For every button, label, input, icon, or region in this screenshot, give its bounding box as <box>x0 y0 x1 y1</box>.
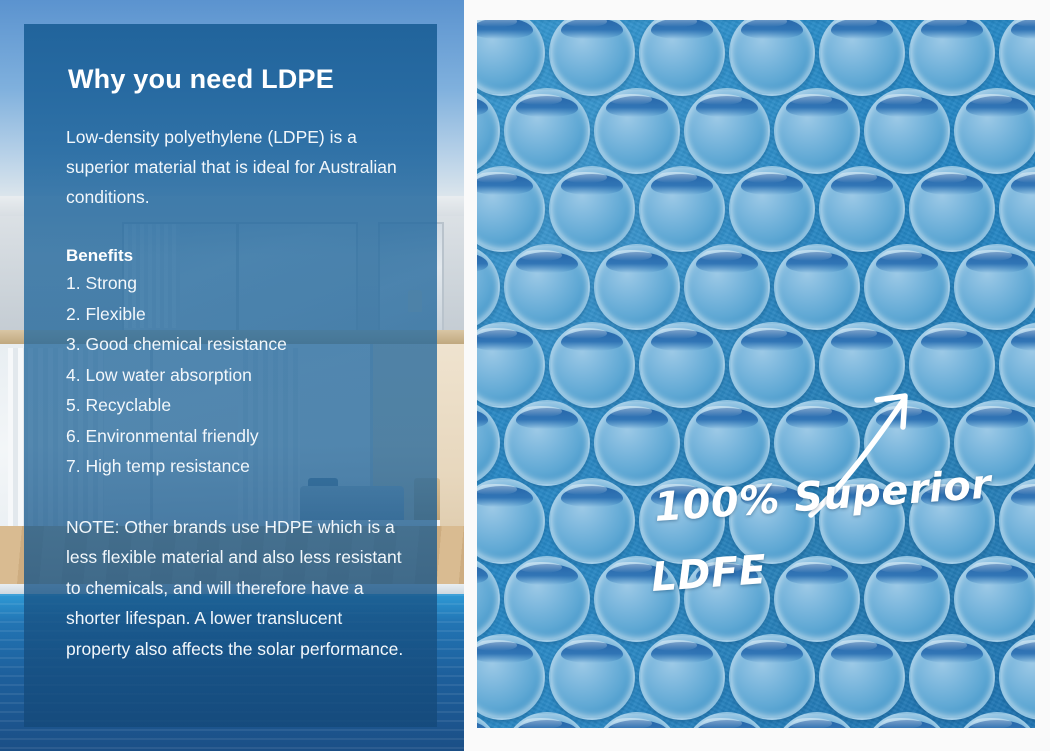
bubble <box>477 556 500 642</box>
bubble <box>504 400 590 486</box>
note-paragraph: NOTE: Other brands use HDPE which is a l… <box>66 512 411 665</box>
bubble <box>477 322 545 408</box>
bubble <box>774 88 860 174</box>
bubble <box>684 400 770 486</box>
bubble <box>774 244 860 330</box>
list-item: 7. High temp resistance <box>66 451 411 482</box>
bubble <box>729 634 815 720</box>
bubble <box>639 166 725 252</box>
bubble <box>729 166 815 252</box>
bubble <box>549 478 635 564</box>
bubble <box>954 556 1035 642</box>
intro-paragraph: Low-density polyethylene (LDPE) is a sup… <box>66 122 411 212</box>
bubble <box>999 478 1035 564</box>
bubble <box>594 88 680 174</box>
bubble <box>504 88 590 174</box>
bubble <box>594 400 680 486</box>
bubble <box>477 478 545 564</box>
bubble <box>477 166 545 252</box>
list-item: 4. Low water absorption <box>66 360 411 391</box>
bubble <box>999 322 1035 408</box>
bubble <box>477 400 500 486</box>
info-card: Why you need LDPE Low-density polyethyle… <box>24 24 437 727</box>
bubble <box>549 166 635 252</box>
annotation-line-2: LDFE <box>650 547 768 601</box>
bubble <box>864 244 950 330</box>
benefits-list: 1. Strong 2. Flexible 3. Good chemical r… <box>66 268 411 482</box>
left-panel: Why you need LDPE Low-density polyethyle… <box>0 0 464 751</box>
bubble <box>477 20 545 96</box>
list-item: 3. Good chemical resistance <box>66 329 411 360</box>
bubble <box>909 166 995 252</box>
list-item: 5. Recyclable <box>66 390 411 421</box>
bubble <box>639 322 725 408</box>
bubble <box>684 88 770 174</box>
bubble <box>477 244 500 330</box>
bubble <box>504 556 590 642</box>
bubble <box>864 556 950 642</box>
bubble <box>909 634 995 720</box>
page-title: Why you need LDPE <box>68 64 411 95</box>
bubble <box>909 20 995 96</box>
bubble <box>639 20 725 96</box>
right-panel: 100% Superior LDFE <box>477 20 1035 728</box>
bubble <box>594 244 680 330</box>
bubble <box>639 634 725 720</box>
bubble <box>684 244 770 330</box>
list-item: 6. Environmental friendly <box>66 421 411 452</box>
bubble <box>477 88 500 174</box>
bubble <box>954 244 1035 330</box>
bubble <box>729 20 815 96</box>
bubble <box>774 556 860 642</box>
list-item: 1. Strong <box>66 268 411 299</box>
bubble <box>477 634 545 720</box>
infographic-page: Why you need LDPE Low-density polyethyle… <box>0 0 1050 751</box>
bubble <box>819 166 905 252</box>
benefits-heading: Benefits <box>66 246 411 266</box>
bubble <box>999 20 1035 96</box>
bubble <box>999 634 1035 720</box>
bubble-grid <box>477 20 1035 728</box>
list-item: 2. Flexible <box>66 299 411 330</box>
bubble <box>549 322 635 408</box>
bubble <box>999 166 1035 252</box>
bubble <box>549 20 635 96</box>
bubble <box>864 88 950 174</box>
bubble <box>819 634 905 720</box>
bubble <box>819 20 905 96</box>
bubble <box>729 322 815 408</box>
bubble <box>549 634 635 720</box>
bubble <box>504 244 590 330</box>
bubble <box>954 88 1035 174</box>
